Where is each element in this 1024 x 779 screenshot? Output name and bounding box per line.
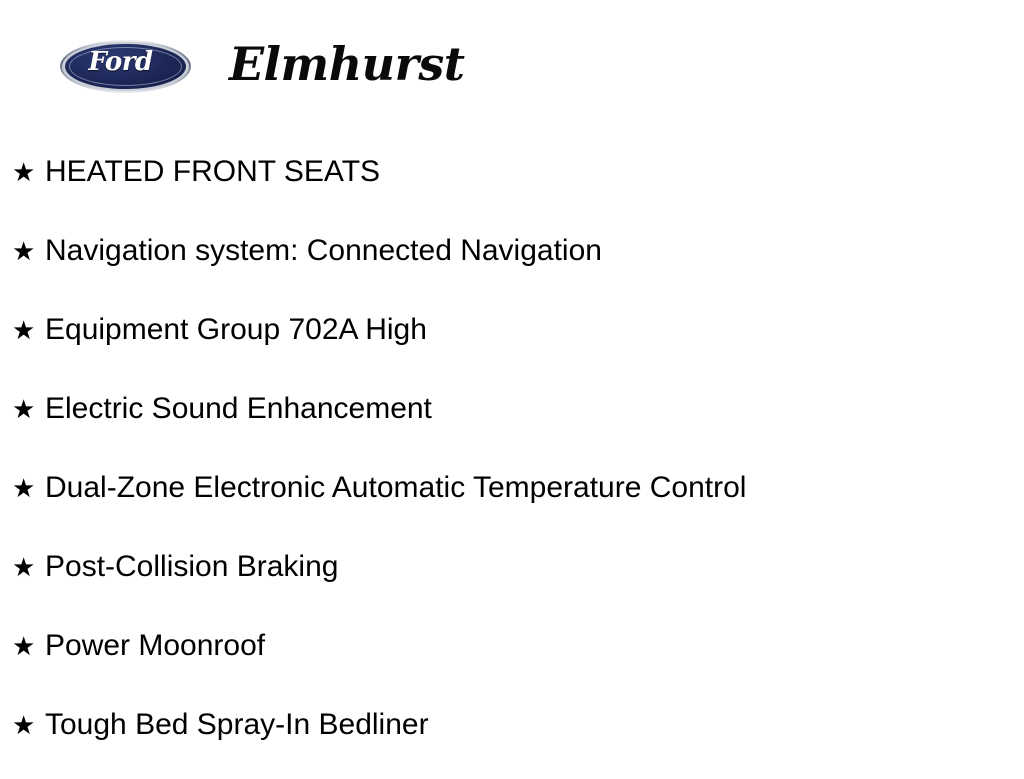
star-bullet-icon: ★ xyxy=(12,700,34,750)
list-item: ★ HEATED FRONT SEATS xyxy=(0,147,1024,226)
list-item: ★ Tough Bed Spray-In Bedliner xyxy=(0,700,1024,779)
list-item: ★ Navigation system: Connected Navigatio… xyxy=(0,226,1024,305)
list-item: ★ Power Moonroof xyxy=(0,621,1024,700)
feature-label: Equipment Group 702A High xyxy=(45,305,427,355)
feature-label: Dual-Zone Electronic Automatic Temperatu… xyxy=(45,463,746,513)
star-bullet-icon: ★ xyxy=(12,305,34,355)
ford-oval-logo: Ford xyxy=(60,40,191,93)
star-bullet-icon: ★ xyxy=(12,621,34,671)
feature-label: Navigation system: Connected Navigation xyxy=(45,226,602,276)
star-bullet-icon: ★ xyxy=(12,542,34,592)
dealer-name-wordmark: Elmhurst xyxy=(229,35,464,93)
feature-label: HEATED FRONT SEATS xyxy=(45,147,380,197)
star-bullet-icon: ★ xyxy=(12,226,34,276)
feature-label: Post-Collision Braking xyxy=(45,542,338,592)
list-item: ★ Dual-Zone Electronic Automatic Tempera… xyxy=(0,463,1024,542)
feature-label: Power Moonroof xyxy=(45,621,265,671)
star-bullet-icon: ★ xyxy=(12,147,34,197)
feature-label: Electric Sound Enhancement xyxy=(45,384,432,434)
list-item: ★ Post-Collision Braking xyxy=(0,542,1024,621)
feature-label: Tough Bed Spray-In Bedliner xyxy=(45,700,429,750)
list-item: ★ Electric Sound Enhancement xyxy=(0,384,1024,463)
vehicle-feature-list: ★ HEATED FRONT SEATS ★ Navigation system… xyxy=(0,147,1024,779)
star-bullet-icon: ★ xyxy=(12,384,34,434)
list-item: ★ Equipment Group 702A High xyxy=(0,305,1024,384)
ford-logo-script-text: Ford xyxy=(60,40,181,85)
brand-header: Ford Elmhurst xyxy=(0,0,1024,128)
star-bullet-icon: ★ xyxy=(12,463,34,513)
